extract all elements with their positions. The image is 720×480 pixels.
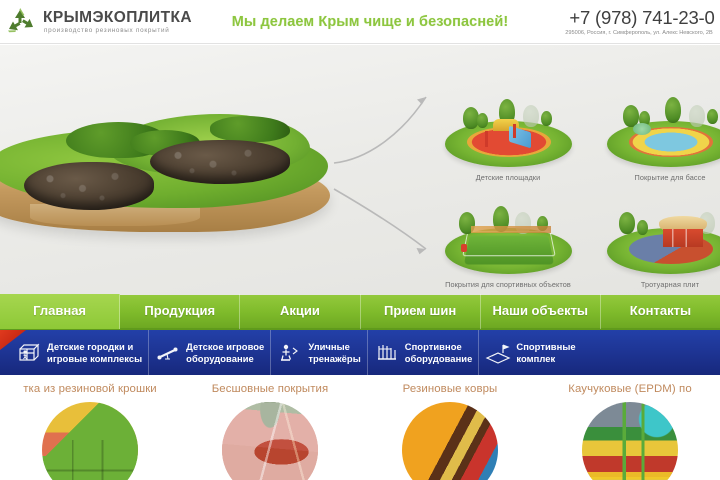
playground-scene [441, 93, 576, 171]
nav-item-promos[interactable]: Акции [240, 294, 360, 329]
pavilion-scene [603, 200, 720, 278]
logo-name: КРЫМЭКОПЛИТКА [43, 9, 192, 26]
card-title: Каучуковые (EPDM) по [540, 383, 720, 395]
nav-item-contacts[interactable]: Контакты [601, 294, 720, 329]
subnav-item-play-equipment[interactable]: Детское игровое оборудование [149, 330, 271, 375]
card-title: Бесшовные покрытия [180, 383, 360, 395]
hero-banner: Детские площадки Покрытие для бассе [0, 45, 720, 295]
header-contacts: +7 (978) 741-23-0 295006, Россия, г. Сим… [548, 7, 720, 37]
hero-thumb-pavilion[interactable]: Тротуарная плит [600, 200, 720, 289]
logo[interactable]: КРЫМЭКОПЛИТКА производство резиновых пок… [0, 7, 200, 37]
rubber-crumb-tile-image [42, 402, 138, 480]
hero-thumb-playground[interactable]: Детские площадки [438, 93, 578, 182]
nav-item-products[interactable]: Продукция [120, 294, 240, 329]
recycle-icon [4, 7, 38, 37]
epdm-coating-image [582, 402, 678, 480]
site-header: КРЫМЭКОПЛИТКА производство резиновых пок… [0, 0, 720, 44]
pool-scene [603, 93, 720, 171]
thumb-caption: Детские площадки [438, 173, 578, 182]
header-slogan: Мы делаем Крым чище и безопасней! [200, 14, 548, 30]
thumb-caption: Покрытия для спортивных объектов [438, 280, 578, 289]
subnav-item-outdoor-trainers[interactable]: Уличные тренажёры [271, 330, 367, 375]
product-card-rubber-crumb-tile[interactable]: тка из резиновой крошки [0, 375, 180, 480]
product-card-seamless-coating[interactable]: Бесшовные покрытия [180, 375, 360, 480]
nav-item-home[interactable]: Главная [0, 294, 120, 329]
subnav-label: Спортивное оборудование [405, 341, 473, 364]
subnav-label: Уличные тренажёры [308, 341, 360, 364]
subnav-label: Детское игровое оборудование [186, 341, 264, 364]
card-title: тка из резиновой крошки [0, 383, 180, 395]
subnav-item-sport-equipment[interactable]: Спортивное оборудование [368, 330, 480, 375]
flow-arrows [330, 85, 440, 285]
seesaw-icon [155, 340, 181, 366]
subnav-label: Спортивные комплек [516, 341, 575, 364]
phone-number[interactable]: +7 (978) 741-23-0 [564, 7, 720, 28]
nav-item-projects[interactable]: Наши объекты [481, 294, 601, 329]
card-title: Резиновые ковры [360, 383, 540, 395]
category-navigation: Детские городки и игровые комплексы Детс… [0, 330, 720, 375]
product-cards: тка из резиновой крошки Бесшовные покрыт… [0, 375, 720, 480]
sportsfield-scene [441, 200, 576, 278]
nav-item-tires[interactable]: Прием шин [361, 294, 481, 329]
rubber-mats-image [402, 402, 498, 480]
company-address: 295006, Россия, г. Симферополь, ул. Алек… [558, 29, 720, 37]
sport-complex-icon [485, 340, 511, 366]
subnav-item-sport-complex[interactable]: Спортивные комплек [479, 330, 581, 375]
main-navigation: Главная Продукция Акции Прием шин Наши о… [0, 295, 720, 330]
play-complex-icon [16, 340, 42, 366]
hero-thumb-pool[interactable]: Покрытие для бассе [600, 93, 720, 182]
seamless-coating-image [222, 402, 318, 480]
subnav-item-play-complex[interactable]: Детские городки и игровые комплексы [0, 330, 149, 375]
hero-thumb-sportsfield[interactable]: Покрытия для спортивных объектов [438, 200, 578, 289]
thumb-caption: Тротуарная плит [600, 280, 720, 289]
thumb-caption: Покрытие для бассе [600, 173, 720, 182]
logo-tagline: производство резиновых покрытий [43, 26, 192, 35]
gym-trainer-icon [277, 340, 303, 366]
product-card-epdm-coating[interactable]: Каучуковые (EPDM) по [540, 375, 720, 480]
sport-equipment-icon [374, 340, 400, 366]
product-card-rubber-mats[interactable]: Резиновые ковры [360, 375, 540, 480]
tires-island-illustration [0, 100, 340, 250]
subnav-label: Детские городки и игровые комплексы [47, 341, 142, 364]
